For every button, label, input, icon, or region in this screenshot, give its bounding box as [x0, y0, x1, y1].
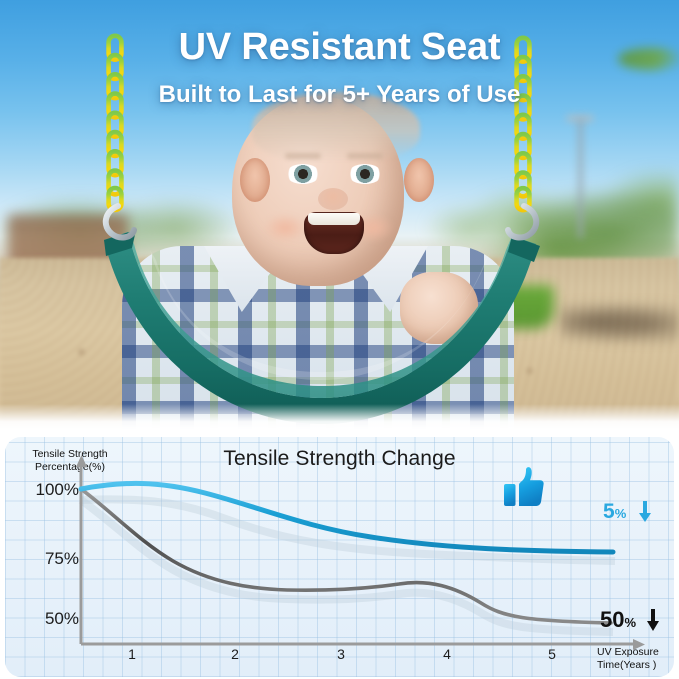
x-axis-arrowhead: [633, 639, 645, 650]
chart-plot: [5, 437, 674, 677]
callout-blue-value: 5: [603, 500, 615, 523]
hero-photo: UV Resistant Seat Built to Last for 5+ Y…: [0, 0, 679, 429]
banner-text-block: UV Resistant Seat Built to Last for 5+ Y…: [0, 26, 679, 109]
gray-curve-shadow: [81, 500, 613, 632]
callout-gray-50-percent: 50%: [600, 607, 661, 633]
banner-title: UV Resistant Seat: [0, 26, 679, 69]
down-arrow-icon: [645, 609, 661, 631]
callout-gray-unit: %: [624, 615, 636, 630]
callout-blue-unit: %: [615, 506, 627, 521]
banner-subtitle: Built to Last for 5+ Years of Use: [0, 81, 679, 109]
down-arrow-icon: [637, 501, 653, 522]
callout-gray-value: 50: [600, 607, 624, 632]
callout-blue-5-percent: 5%: [603, 500, 653, 524]
tensile-strength-chart-panel: Tensile Strength Change Tensile Strength…: [5, 437, 674, 677]
y-axis-arrowhead: [76, 455, 87, 467]
photo-bottom-fade: [0, 404, 679, 429]
product-infographic: UV Resistant Seat Built to Last for 5+ Y…: [0, 0, 679, 679]
thumbs-up-icon: [502, 465, 546, 511]
